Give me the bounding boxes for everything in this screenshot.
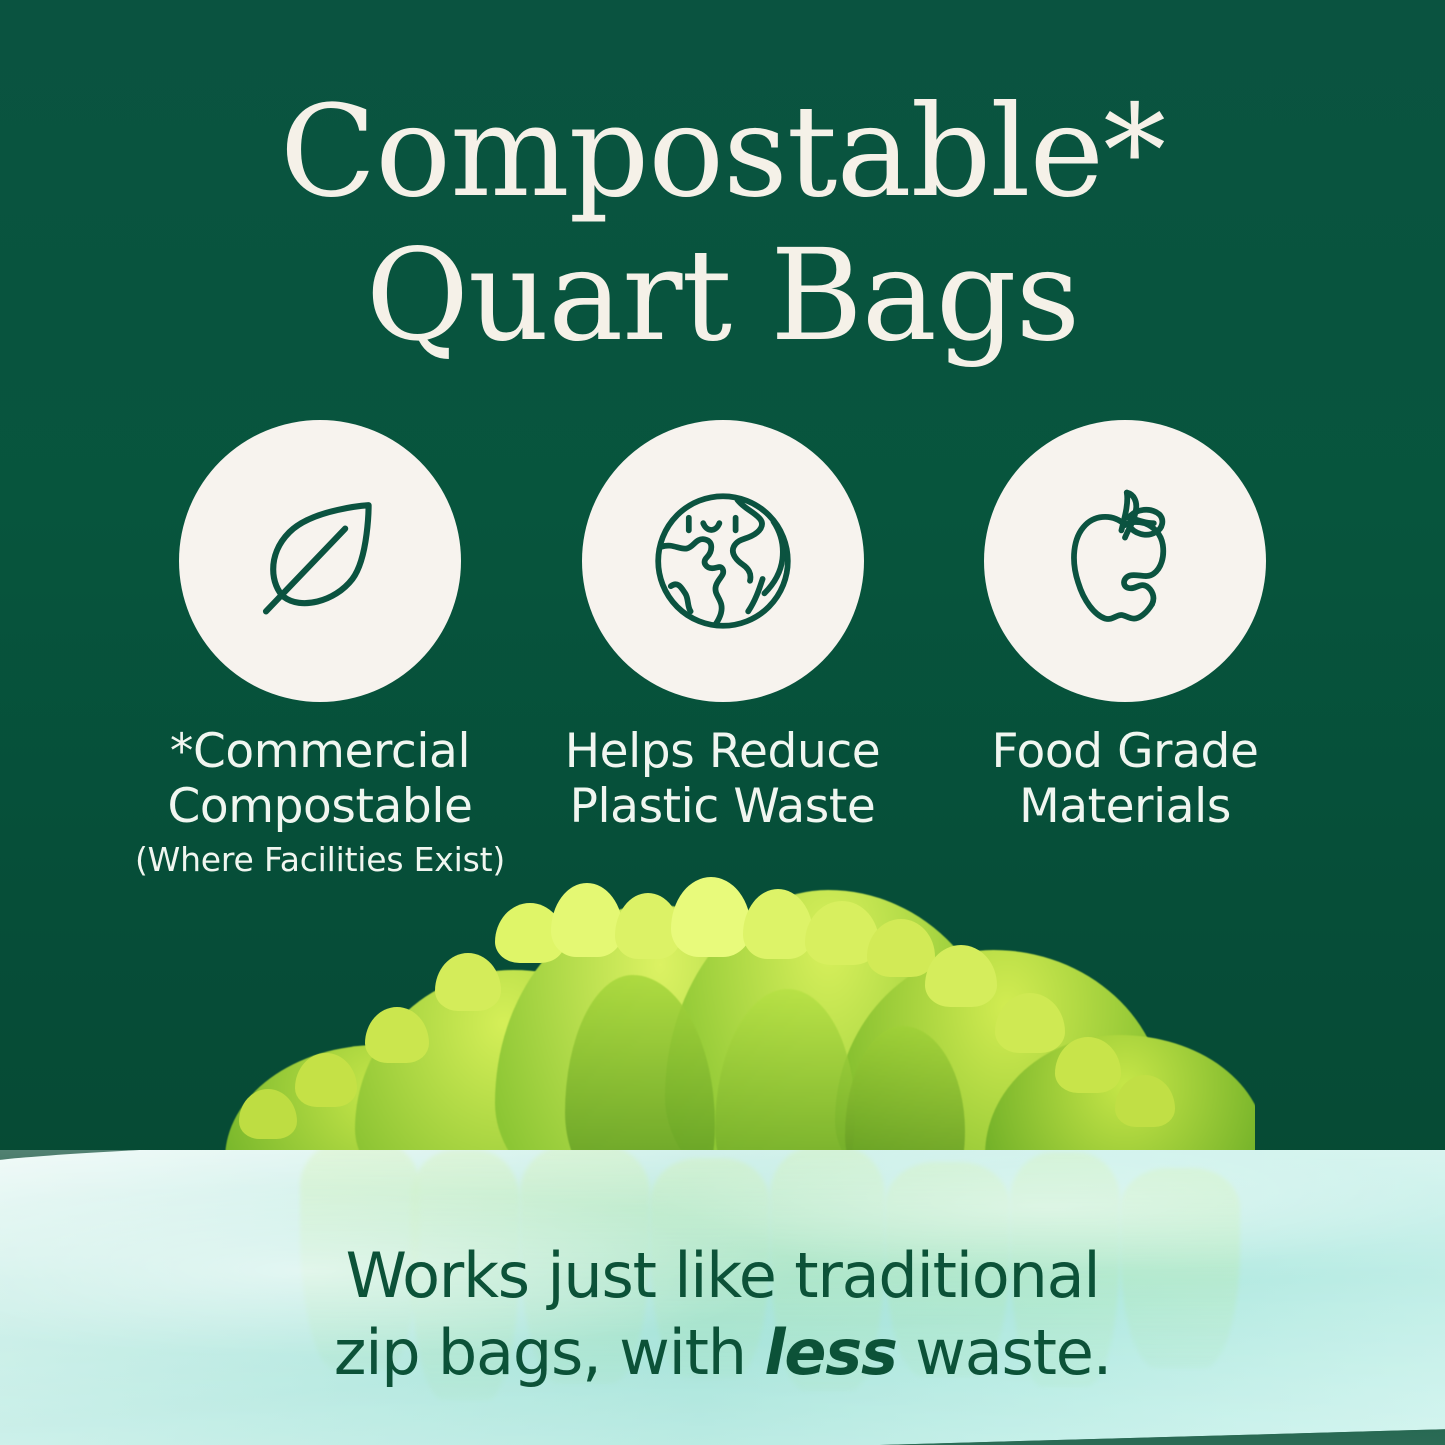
caption-line-2: Plastic Waste <box>565 779 881 834</box>
headline-line-2: Quart Bags <box>0 224 1445 368</box>
badge-circle-apple <box>984 420 1266 702</box>
leaf-icon <box>230 471 410 651</box>
tagline-emphasis-less: less <box>764 1316 896 1389</box>
feature-food-grade-materials: Food Grade Materials <box>925 420 1325 835</box>
feature-helps-reduce-plastic-waste: Helps Reduce Plastic Waste <box>523 420 923 835</box>
caption-line-1: Food Grade <box>992 724 1259 779</box>
feature-caption-food-grade-materials: Food Grade Materials <box>992 724 1259 835</box>
caption-line-1: Helps Reduce <box>565 724 881 779</box>
caption-subnote: (Where Facilities Exist) <box>135 841 505 880</box>
tagline-line-2: zip bags, with less waste. <box>0 1315 1445 1392</box>
caption-line-2: Compostable <box>135 779 505 834</box>
badge-circle-globe <box>582 420 864 702</box>
bitten-apple-icon <box>1035 471 1215 651</box>
product-marketing-panel: Compostable* Quart Bags *Commercial Comp… <box>0 0 1445 1445</box>
feature-commercial-compostable: *Commercial Compostable (Where Facilitie… <box>120 420 520 880</box>
caption-line-1: *Commercial <box>135 724 505 779</box>
feature-caption-helps-reduce-plastic-waste: Helps Reduce Plastic Waste <box>565 724 881 835</box>
tagline-line-2-before: zip bags, with <box>334 1316 765 1389</box>
badge-circle-leaf <box>179 420 461 702</box>
feature-badge-row: *Commercial Compostable (Where Facilitie… <box>120 420 1325 880</box>
caption-line-2: Materials <box>992 779 1259 834</box>
feature-caption-commercial-compostable: *Commercial Compostable (Where Facilitie… <box>135 724 505 880</box>
headline-line-1: Compostable* <box>0 80 1445 224</box>
tagline-line-1: Works just like traditional <box>0 1238 1445 1315</box>
smiling-earth-globe-icon <box>633 471 813 651</box>
tagline-line-2-after: waste. <box>897 1316 1111 1389</box>
tagline: Works just like traditional zip bags, wi… <box>0 1238 1445 1392</box>
page-title: Compostable* Quart Bags <box>0 80 1445 367</box>
